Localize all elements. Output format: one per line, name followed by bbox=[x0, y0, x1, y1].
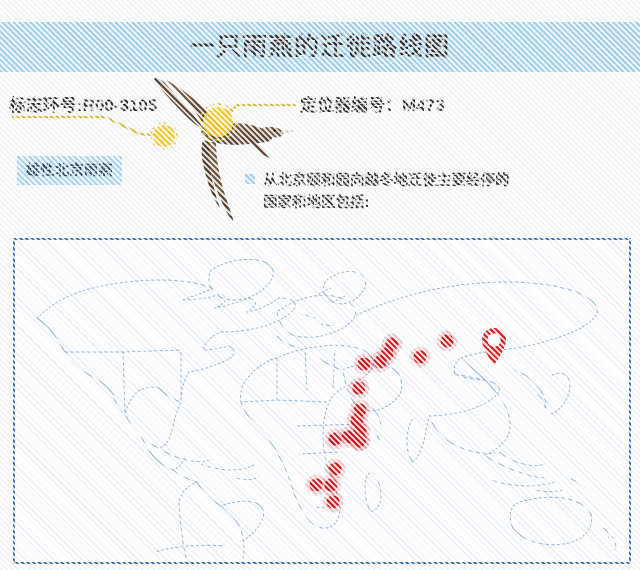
bullet-square-icon bbox=[245, 174, 255, 184]
title-banner: 一只雨燕的迁徙路线图 bbox=[0, 22, 640, 72]
stopover-dot[interactable] bbox=[327, 496, 340, 509]
bird-panel: 标志环号:R00-3105 定位器编号：M473 雄性北京雨燕 从北京颐和园向越… bbox=[0, 72, 640, 227]
world-map-outlines bbox=[15, 240, 625, 558]
page-title: 一只雨燕的迁徙路线图 bbox=[190, 35, 450, 60]
stopover-dot[interactable] bbox=[325, 479, 338, 492]
species-badge: 雄性北京雨燕 bbox=[17, 156, 122, 185]
ring-number-label: 标志环号:R00-3105 bbox=[9, 91, 157, 116]
stopover-dot[interactable] bbox=[374, 356, 387, 369]
stopover-dot[interactable] bbox=[310, 479, 323, 492]
stopover-dot[interactable] bbox=[414, 351, 427, 364]
stopover-dot[interactable] bbox=[441, 335, 454, 348]
migration-note-line2: 国家和地区包括: bbox=[263, 192, 625, 214]
tracker-number-label: 定位器编号：M473 bbox=[300, 91, 445, 116]
stopover-dot[interactable] bbox=[353, 382, 366, 395]
migration-note-line1: 从北京颐和园向越冬地迁徙主要经停的 bbox=[263, 173, 510, 189]
stopover-dot[interactable] bbox=[353, 435, 366, 448]
beijing-location-pin-icon[interactable] bbox=[479, 326, 509, 366]
stopover-dot[interactable] bbox=[329, 463, 342, 476]
stopover-dot[interactable] bbox=[329, 433, 342, 446]
world-map[interactable]: 中国（北京） bbox=[13, 238, 631, 564]
migration-note: 从北京颐和园向越冬地迁徙主要经停的 国家和地区包括: bbox=[245, 170, 625, 215]
stopover-dot[interactable] bbox=[358, 358, 371, 371]
poster-root: 一只雨燕的迁徙路线图 bbox=[0, 0, 640, 570]
